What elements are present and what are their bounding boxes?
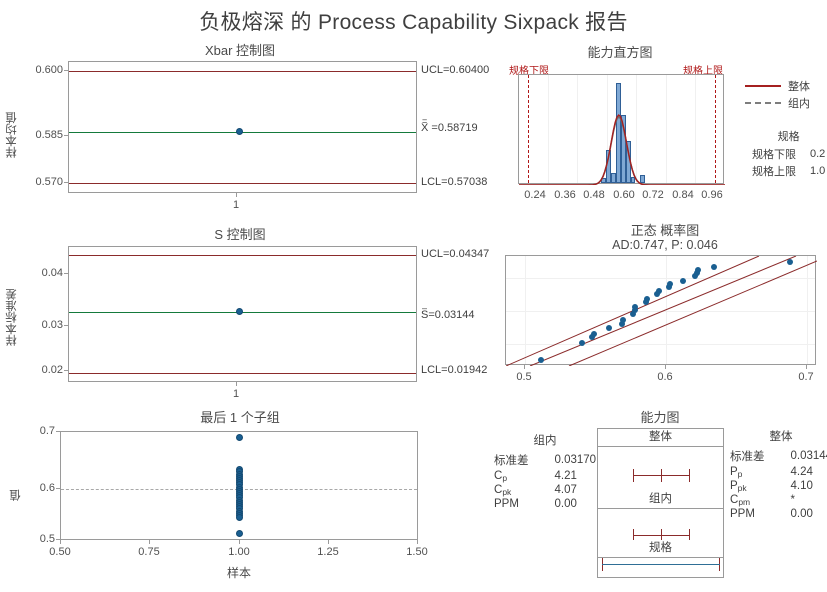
histogram-x-tick-5: 0.84 (667, 189, 699, 201)
ls-x-tickmark-4 (417, 540, 418, 544)
last-subgroup-x-tick-2: 1.00 (219, 546, 259, 558)
xbar-y-tick-1: 0.585 (18, 129, 63, 141)
probability-plot-x-tick-2: 0.7 (791, 371, 821, 383)
legend-line-within-icon (745, 98, 781, 108)
within-stats-row: 标准差 0.03170 (494, 451, 596, 469)
s-x-tick-0: 1 (226, 388, 246, 400)
ls-x-tickmark-1 (149, 540, 150, 544)
last-subgroup-x-axis-title: 样本 (60, 564, 418, 581)
overall-stats-label: PPM (730, 507, 765, 521)
overall-stats-label: Pp (730, 465, 765, 479)
s-x-tickmark (236, 382, 237, 386)
histogram-x-tick-6: 0.96 (696, 189, 728, 201)
xbar-ucl-line (69, 71, 416, 72)
xbar-y-tick-2: 0.570 (18, 176, 63, 188)
capability-row-header-overall: 整体 (598, 429, 723, 447)
probability-plot-point (695, 267, 701, 273)
s-chart-title: S 控制图 (60, 224, 420, 243)
capability-marks-overall (633, 469, 690, 482)
process-capability-sixpack-report: 负极熔深 的 Process Capability Sixpack 报告 Xba… (0, 0, 827, 592)
s-plot-area (68, 246, 417, 382)
spec-lsl-value: 0.2 (796, 146, 825, 163)
s-lcl-line (69, 373, 416, 374)
legend-label-within: 组内 (788, 95, 810, 111)
legend-line-overall-icon (745, 81, 781, 91)
probability-plot-point (656, 288, 662, 294)
xbar-lcl-line (69, 183, 416, 184)
legend-item-overall: 整体 (745, 78, 810, 93)
s-center-label: – S=0.03144 (421, 305, 475, 321)
prob-x-tickmark-1 (665, 365, 666, 369)
page-title: 负极熔深 的 Process Capability Sixpack 报告 (0, 6, 827, 36)
spec-lsl-label: 规格下限 (752, 146, 796, 163)
histogram-x-tick-1: 0.36 (549, 189, 581, 201)
probability-plot-subtitle: AD:0.747, P: 0.046 (520, 238, 810, 252)
histogram-x-tick-2: 0.48 (578, 189, 610, 201)
overall-stats: 整体 标准差 0.03144 Pp 4.24 Ppk 4.10 Cpm * PP… (730, 428, 827, 521)
histogram-lsl-line (528, 75, 529, 183)
capability-row-header-within: 组内 (598, 491, 723, 509)
prob-x-tickmark-0 (524, 365, 525, 369)
probability-plot-point (591, 331, 597, 337)
overall-stats-value: 4.10 (765, 479, 827, 493)
overall-stats-value: * (765, 493, 827, 507)
s-y-tick-0: 0.04 (18, 267, 63, 279)
xbar-ucl-label: UCL=0.60400 (421, 64, 489, 76)
last-subgroup-x-tick-3: 1.25 (308, 546, 348, 558)
probability-plot-lines (506, 256, 817, 366)
xbar-chart-title: Xbar 控制图 (60, 40, 420, 59)
xbar-x-tickmark (236, 193, 237, 197)
histogram-x-tick-4: 0.72 (637, 189, 669, 201)
histogram-title: 能力直方图 (520, 42, 720, 61)
last-subgroup-point (236, 434, 243, 441)
capability-plot-title: 能力图 (590, 407, 730, 426)
xbar-lcl-label: LCL=0.57038 (421, 176, 487, 188)
histogram-usl-line (715, 75, 716, 183)
spec-row-lsl: 规格下限 0.2 (752, 146, 825, 163)
capability-marks-spec (602, 558, 721, 571)
ls-x-tickmark-2 (239, 540, 240, 544)
xbar-y-tick-0: 0.600 (18, 64, 63, 76)
capability-plot-box: 整体 组内 规格 (597, 428, 724, 578)
overall-stats-value: 0.00 (765, 507, 827, 521)
probability-plot-x-tick-1: 0.6 (650, 371, 680, 383)
s-ucl-line (69, 255, 416, 256)
within-stats-value: 4.07 (529, 483, 597, 497)
overall-stats-row: Ppk 4.10 (730, 479, 827, 493)
legend-label-overall: 整体 (788, 78, 810, 94)
probability-plot-point (667, 281, 673, 287)
last-subgroup-point (236, 530, 243, 537)
xbar-plot-area (68, 61, 417, 193)
last-subgroup-point (236, 514, 243, 521)
last-subgroup-x-tick-4: 1.50 (397, 546, 437, 558)
ls-x-tickmark-3 (328, 540, 329, 544)
s-lcl-label: LCL=0.01942 (421, 364, 487, 376)
within-stats-label: Cpk (494, 483, 529, 497)
probability-plot-x-tick-0: 0.5 (509, 371, 539, 383)
spec-table: 规格下限 0.2 规格上限 1.0 (752, 146, 825, 180)
histogram-x-tick-0: 0.24 (519, 189, 551, 201)
within-stats-label: PPM (494, 497, 529, 511)
probability-plot-area (505, 255, 816, 365)
xbar-center-label: = X =0.58719 (421, 118, 478, 134)
s-y-tick-2: 0.02 (18, 364, 63, 376)
last-subgroup-y-tick-2: 0.5 (10, 533, 55, 545)
last-subgroup-y-tick-1: 0.6 (10, 482, 55, 494)
overall-stats-table: 标准差 0.03144 Pp 4.24 Ppk 4.10 Cpm * PPM 0… (730, 447, 827, 521)
histogram-spec-block: 规格 规格下限 0.2 规格上限 1.0 (752, 128, 825, 180)
probability-plot-point (632, 304, 638, 310)
overall-stats-label: 标准差 (730, 447, 765, 465)
last-subgroup-x-tick-1: 0.75 (129, 546, 169, 558)
s-ucl-label: UCL=0.04347 (421, 248, 489, 260)
histogram-plot-area (518, 74, 724, 184)
overall-stats-row: Pp 4.24 (730, 465, 827, 479)
last-subgroup-plot-area (60, 431, 418, 540)
spec-usl-label: 规格上限 (752, 163, 796, 180)
probability-plot-point (711, 264, 717, 270)
within-stats-label: Cp (494, 469, 529, 483)
overall-stats-row: 标准差 0.03144 (730, 447, 827, 465)
histogram-x-tick-3: 0.60 (608, 189, 640, 201)
overall-stats-label: Ppk (730, 479, 765, 493)
overall-stats-header: 整体 (730, 428, 827, 444)
within-stats-row: PPM 0.00 (494, 497, 596, 511)
last-subgroup-x-tick-0: 0.50 (40, 546, 80, 558)
histogram-fit-curves (519, 75, 725, 185)
within-stats-value: 0.03170 (529, 451, 597, 469)
within-stats-value: 4.21 (529, 469, 597, 483)
last-subgroup-y-tick-0: 0.7 (10, 425, 55, 437)
capability-row-header-spec: 规格 (598, 540, 723, 558)
within-stats-value: 0.00 (529, 497, 597, 511)
overall-stats-row: PPM 0.00 (730, 507, 827, 521)
overall-stats-value: 4.24 (765, 465, 827, 479)
xbar-data-point (236, 128, 243, 135)
s-y-tick-1: 0.03 (18, 319, 63, 331)
within-stats-table: 标准差 0.03170 Cp 4.21 Cpk 4.07 PPM 0.00 (494, 451, 596, 511)
histogram-legend: 整体 组内 (745, 78, 810, 112)
spec-row-usl: 规格上限 1.0 (752, 163, 825, 180)
overall-stats-label: Cpm (730, 493, 765, 507)
within-stats-row: Cp 4.21 (494, 469, 596, 483)
overall-stats-value: 0.03144 (765, 447, 827, 465)
spec-usl-value: 1.0 (796, 163, 825, 180)
last-subgroup-title: 最后 1 个子组 (60, 407, 420, 426)
probability-plot-title: 正态 概率图 (520, 220, 810, 239)
xbar-x-tick-0: 1 (226, 199, 246, 211)
s-data-point (236, 308, 243, 315)
spec-block-header: 规格 (752, 128, 825, 144)
overall-stats-row: Cpm * (730, 493, 827, 507)
prob-x-tickmark-2 (806, 365, 807, 369)
legend-item-within: 组内 (745, 95, 810, 110)
within-stats-label: 标准差 (494, 451, 529, 469)
probability-plot-point (680, 278, 686, 284)
ls-x-tickmark-0 (60, 540, 61, 544)
within-stats-row: Cpk 4.07 (494, 483, 596, 497)
within-stats-header: 组内 (494, 432, 596, 448)
within-stats: 组内 标准差 0.03170 Cp 4.21 Cpk 4.07 PPM 0.00 (494, 432, 596, 511)
